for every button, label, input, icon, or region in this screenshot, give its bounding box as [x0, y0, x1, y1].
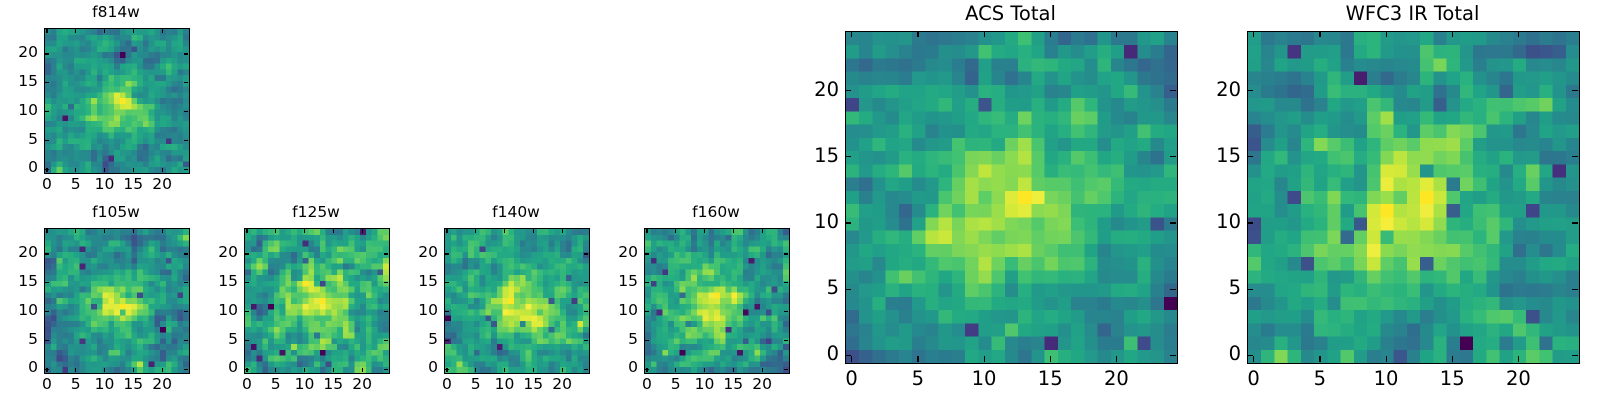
- heatmap-axes-wfc3-ir-total[interactable]: [1247, 31, 1580, 364]
- y-axis-tick: [1247, 289, 1253, 290]
- figure-canvas: f814w 0055101015152020 f105w 00551010151…: [0, 0, 1600, 400]
- y-axis-tick-label: 5: [1181, 278, 1241, 298]
- panel-wfc3-ir-total: WFC3 IR Total 0055101015152020: [0, 0, 1600, 400]
- y-axis-tick: [1572, 90, 1578, 91]
- x-axis-tick-label: 10: [1356, 369, 1416, 389]
- panel-title-wfc3-ir-total: WFC3 IR Total: [1247, 4, 1578, 24]
- y-axis-tick: [1247, 355, 1253, 356]
- y-axis-tick: [1247, 90, 1253, 91]
- x-axis-tick-label: 5: [1290, 369, 1350, 389]
- x-axis-tick: [1452, 356, 1453, 362]
- y-axis-tick: [1572, 289, 1578, 290]
- x-axis-tick: [1452, 31, 1453, 37]
- y-axis-tick-label: 0: [1181, 344, 1241, 364]
- y-axis-tick: [1572, 355, 1578, 356]
- x-axis-tick: [1319, 356, 1320, 362]
- x-axis-tick: [1386, 31, 1387, 37]
- x-axis-tick: [1253, 31, 1254, 37]
- heatmap-image-wfc3-ir-total: [1248, 32, 1579, 363]
- y-axis-tick-label: 20: [1181, 80, 1241, 100]
- y-axis-tick-label: 10: [1181, 212, 1241, 232]
- x-axis-tick-label: 0: [1224, 369, 1284, 389]
- y-axis-tick-label: 15: [1181, 146, 1241, 166]
- x-axis-tick-label: 15: [1422, 369, 1482, 389]
- x-axis-tick: [1518, 356, 1519, 362]
- y-axis-tick: [1247, 156, 1253, 157]
- x-axis-tick: [1319, 31, 1320, 37]
- x-axis-tick: [1518, 31, 1519, 37]
- y-axis-tick: [1572, 156, 1578, 157]
- x-axis-tick: [1386, 356, 1387, 362]
- x-axis-tick: [1253, 356, 1254, 362]
- x-axis-tick-label: 20: [1488, 369, 1548, 389]
- y-axis-tick: [1247, 222, 1253, 223]
- y-axis-tick: [1572, 222, 1578, 223]
